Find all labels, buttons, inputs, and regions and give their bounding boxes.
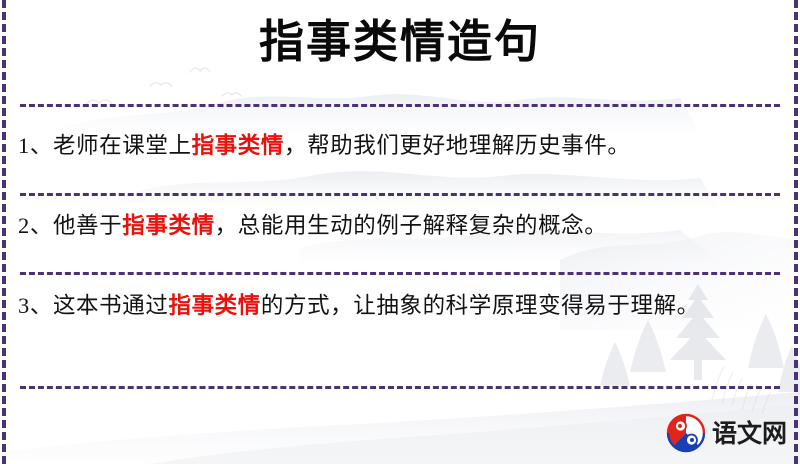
sentence-text-before: 这本书通过 [53, 293, 169, 318]
sentence-text-before: 老师在课堂上 [53, 133, 192, 158]
keyword-highlight: 指事类情 [122, 213, 214, 238]
dashed-separator-3 [20, 272, 780, 275]
dashed-separator-1 [20, 104, 780, 107]
keyword-highlight: 指事类情 [168, 293, 260, 318]
dashed-separator-2 [20, 193, 780, 196]
right-dashed-border [794, 0, 798, 464]
yinyang-fish-circle-logo-icon [666, 413, 706, 453]
sentence-text-after: ，总能用生动的例子解释复杂的概念。 [215, 213, 608, 238]
sentence-index: 1、 [18, 133, 53, 158]
site-logo-text: 语文网 [712, 421, 787, 446]
sentence-index: 3、 [18, 293, 53, 318]
sentence-index: 2、 [18, 213, 53, 238]
sentence-item: 3、这本书通过指事类情的方式，让抽象的科学原理变得易于理解。 [18, 286, 778, 326]
sentence-text-before: 他善于 [53, 213, 122, 238]
left-dashed-border [2, 0, 6, 464]
sentence-card-page: 指事类情造句 1、老师在课堂上指事类情，帮助我们更好地理解历史事件。 2、他善于… [0, 0, 800, 464]
sentence-text-after: 的方式，让抽象的科学原理变得易于理解。 [261, 293, 700, 318]
sentence-item: 1、老师在课堂上指事类情，帮助我们更好地理解历史事件。 [18, 126, 778, 166]
site-logo[interactable]: 语文网 [666, 410, 786, 456]
keyword-highlight: 指事类情 [192, 133, 284, 158]
sentence-text-after: ，帮助我们更好地理解历史事件。 [284, 133, 631, 158]
dashed-separator-4 [20, 386, 780, 389]
sentence-item: 2、他善于指事类情，总能用生动的例子解释复杂的概念。 [18, 206, 778, 246]
sentence-list: 1、老师在课堂上指事类情，帮助我们更好地理解历史事件。 2、他善于指事类情，总能… [0, 0, 800, 464]
